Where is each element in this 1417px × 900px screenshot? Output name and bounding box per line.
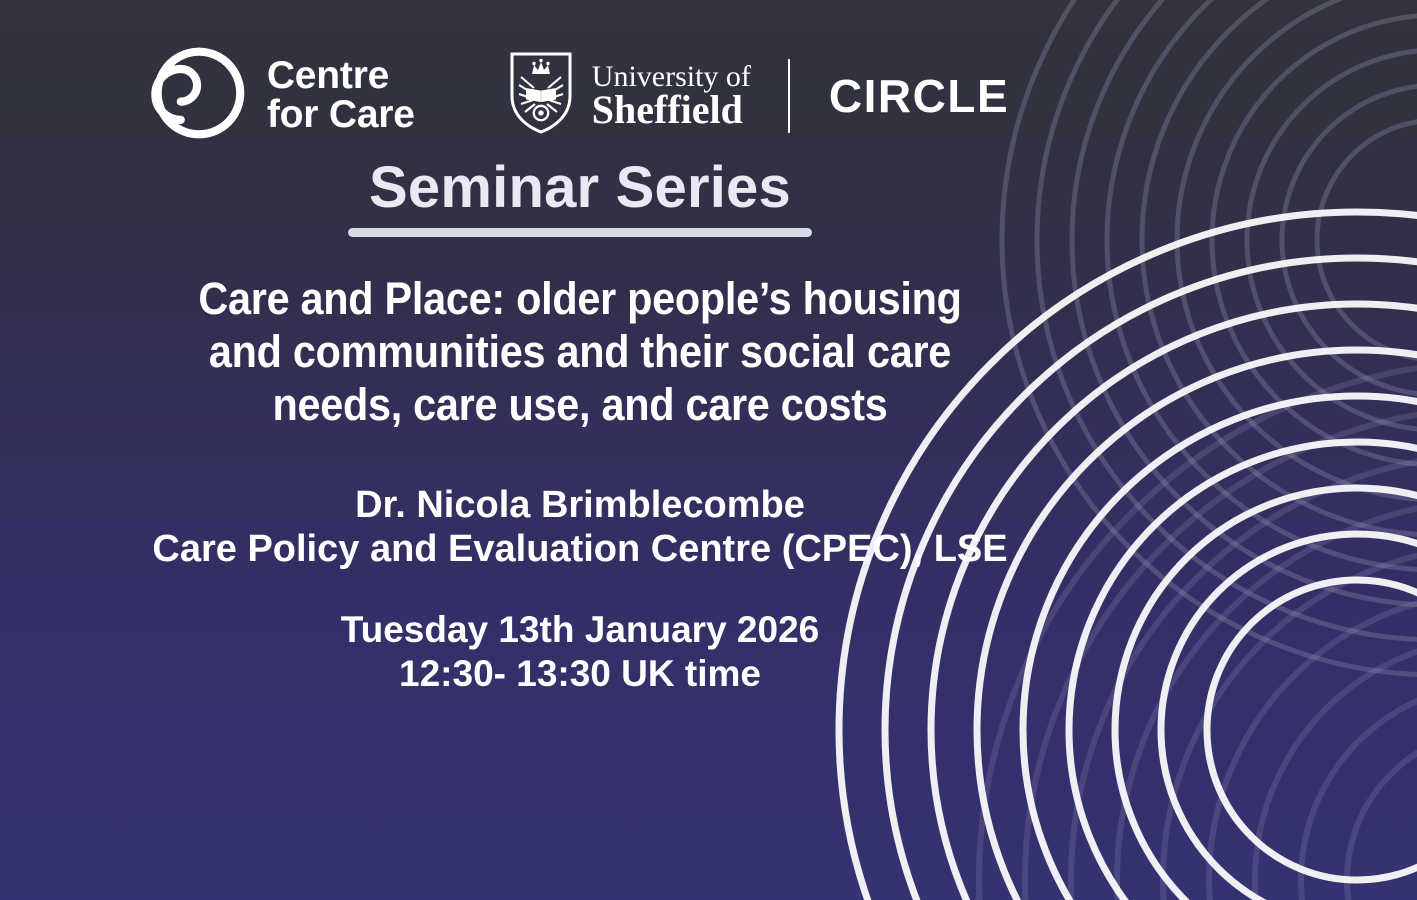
- seminar-series-underline: [348, 228, 812, 237]
- speaker-affiliation: Care Policy and Evaluation Centre (CPEC)…: [0, 527, 1160, 571]
- sheffield-line-sheffield: Sheffield: [592, 90, 751, 130]
- event-datetime-block: Tuesday 13th January 2026 12:30- 13:30 U…: [0, 608, 1160, 697]
- seminar-series-heading: Seminar Series: [0, 158, 1160, 219]
- event-time: 12:30- 13:30 UK time: [0, 652, 1160, 696]
- seminar-series-heading-block: Seminar Series: [0, 158, 1160, 237]
- event-date: Tuesday 13th January 2026: [0, 608, 1160, 652]
- centre-for-care-logo: Centre for Care: [151, 45, 415, 146]
- talk-title: Care and Place: older people’s housing a…: [46, 272, 1113, 431]
- centre-for-care-wordmark: Centre for Care: [267, 57, 415, 134]
- seminar-poster: Centre for Care: [0, 0, 1417, 900]
- vertical-divider: [788, 59, 790, 133]
- circle-wordmark: CIRCLE: [829, 69, 1009, 123]
- speaker-name: Dr. Nicola Brimblecombe: [0, 483, 1160, 527]
- speaker-block: Dr. Nicola Brimblecombe Care Policy and …: [0, 483, 1160, 571]
- logo-row: Centre for Care: [0, 45, 1160, 146]
- university-of-sheffield-circle-logo: University of Sheffield CIRCLE: [507, 50, 1009, 141]
- circle-swirl-logo-icon: [151, 45, 247, 146]
- sheffield-shield-crest-icon: [507, 50, 575, 141]
- sheffield-wordmark: University of Sheffield: [592, 62, 751, 130]
